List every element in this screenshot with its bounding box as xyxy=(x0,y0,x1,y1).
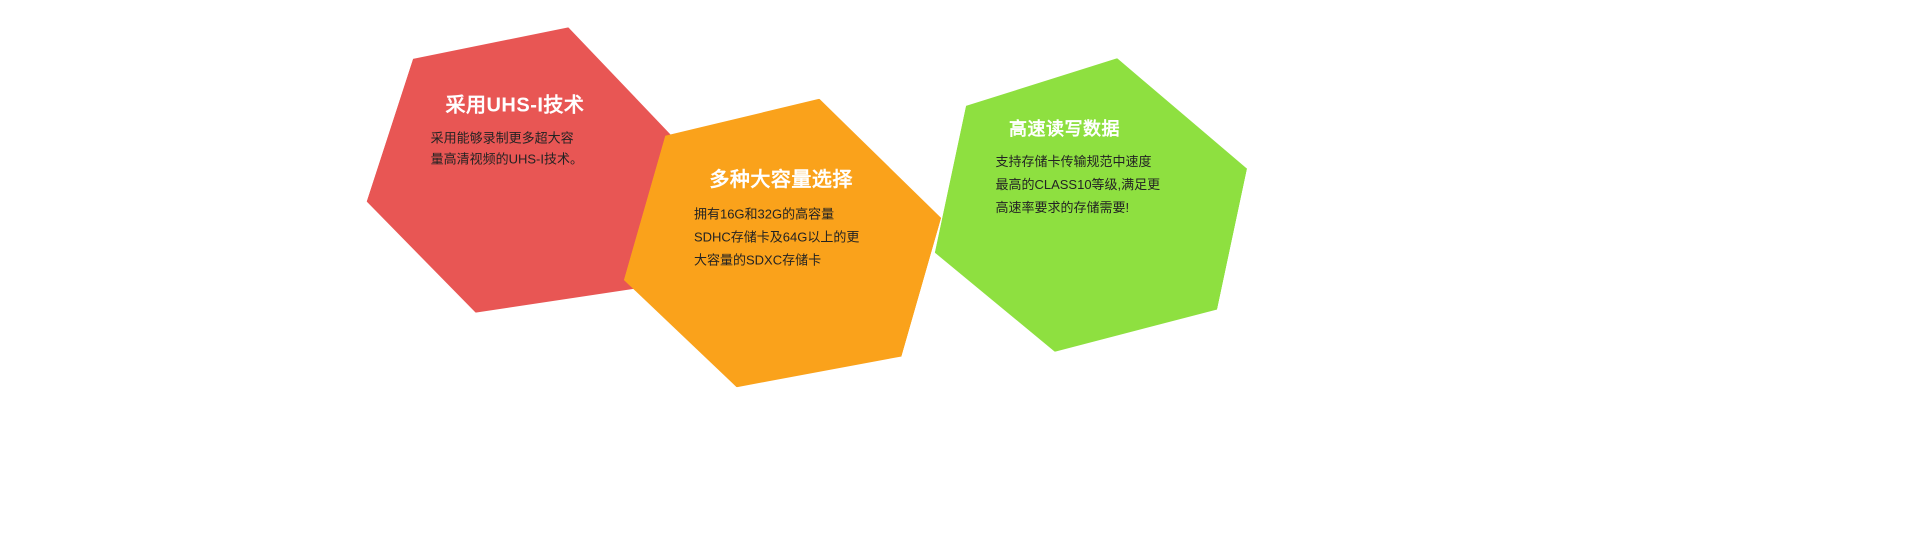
feature-title-high-speed: 高速读写数据 xyxy=(1009,115,1120,141)
feature-description-capacity-options: 拥有16G和32G的高容量 SDHC存储卡及64G以上的更 大容量的SDXC存储… xyxy=(694,202,859,271)
feature-title-uhs-i: 采用UHS-I技术 xyxy=(445,88,584,117)
feature-card-high-speed: 高速读写数据 支持存储卡传输规范中速度 最高的CLASS10等级,满足更 高速率… xyxy=(908,27,1264,383)
feature-title-capacity-options: 多种大容量选择 xyxy=(709,163,853,192)
feature-description-uhs-i: 采用能够录制更多超大容 量高清视频的UHS-I技术。 xyxy=(431,128,583,170)
feature-card-content-high-speed: 高速读写数据 支持存储卡传输规范中速度 最高的CLASS10等级,满足更 高速率… xyxy=(908,27,1264,383)
feature-hexagons-banner: 采用UHS-I技术 采用能够录制更多超大容 量高清视频的UHS-I技术。 多种大… xyxy=(0,0,1920,548)
feature-description-high-speed: 支持存储卡传输规范中速度 最高的CLASS10等级,满足更 高速率要求的存储需要… xyxy=(995,150,1160,219)
